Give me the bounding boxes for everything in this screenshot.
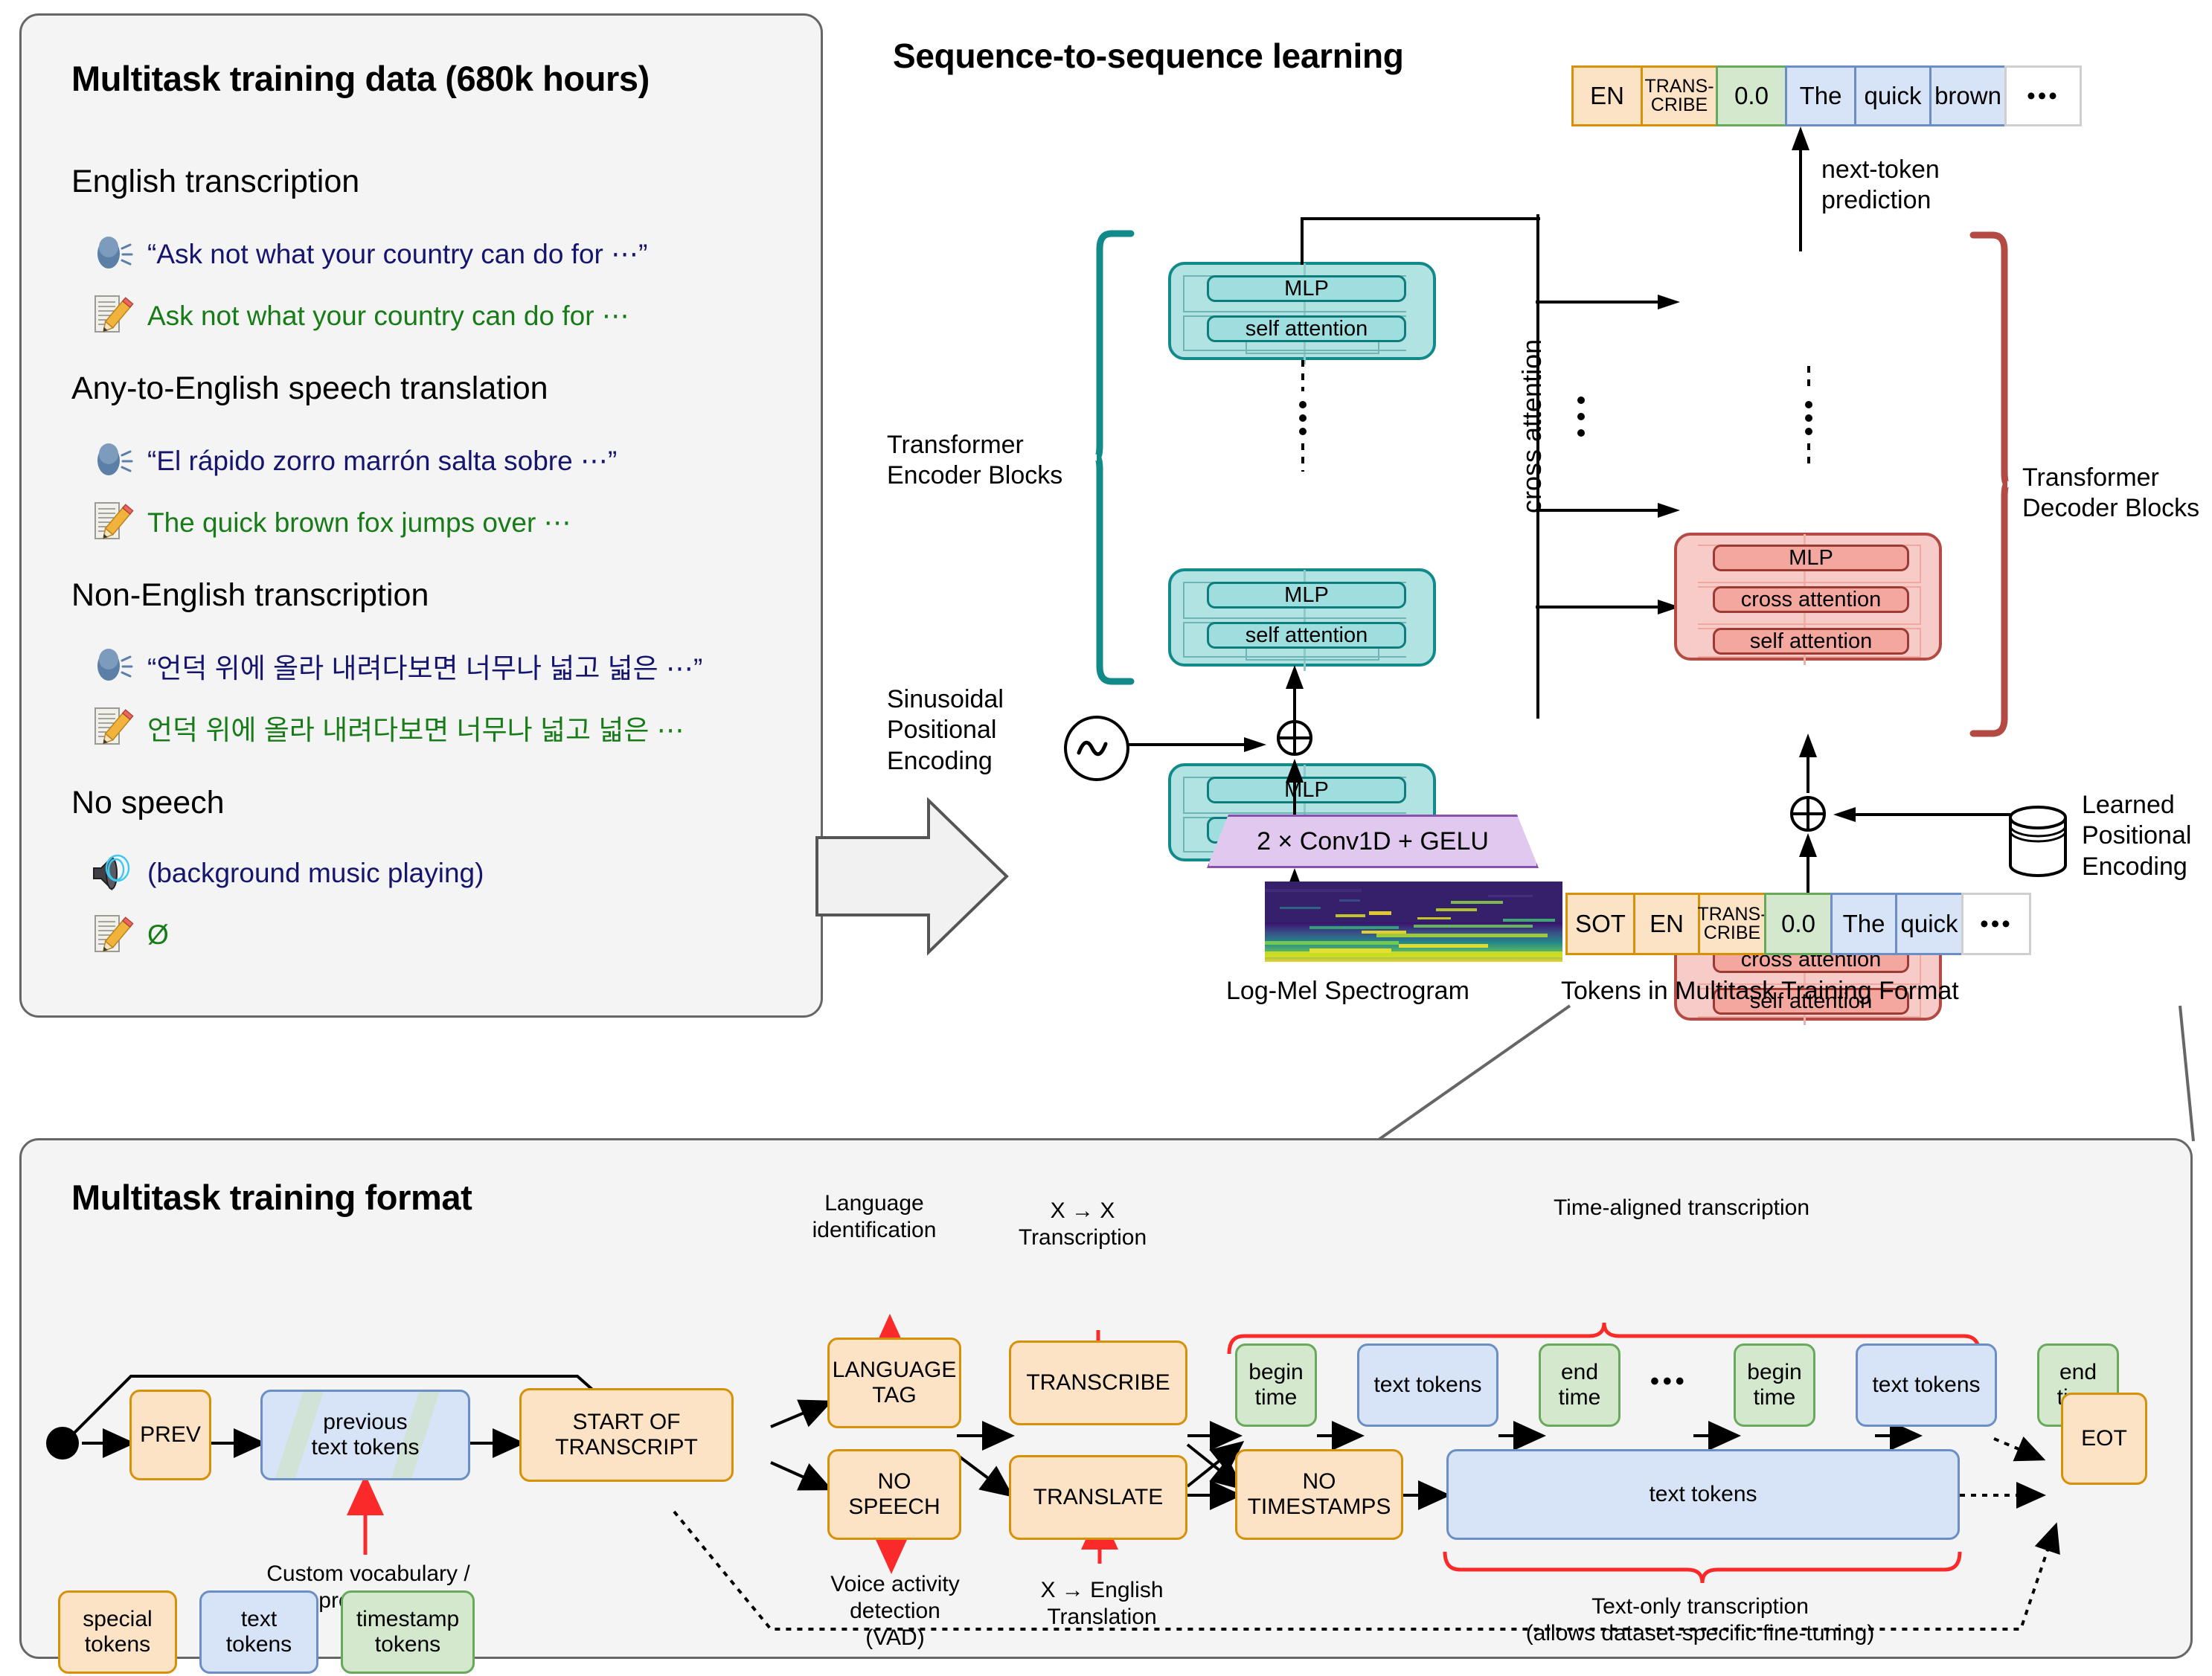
token-the[interactable]: The <box>1785 65 1856 126</box>
flow-node-eot[interactable]: EOT <box>2061 1393 2147 1485</box>
example-transcript-text: 언덕 위에 올라 내려다보면 너무나 넓고 넓은 ⋯ <box>147 707 685 748</box>
example-speech-row: “언덕 위에 올라 내려다보면 너무나 넓고 넓은 ⋯” <box>89 643 702 689</box>
sine-to-sum-arrow <box>1126 736 1268 757</box>
conv1d-gelu-label: 2 × Conv1D + GELU <box>1207 815 1539 868</box>
category-heading-non-english-transcription: Non-English transcription <box>71 577 429 614</box>
flow-node-start-of-transcript[interactable]: START OF TRANSCRIPT <box>519 1388 734 1482</box>
token-ellipsis: ••• <box>1961 893 2031 955</box>
flow-node-text-tokens-2[interactable]: text tokens <box>1856 1343 1997 1427</box>
example-speech-text: “Ask not what your country can do for ⋯” <box>147 238 647 270</box>
sum-to-decoder-arrow <box>1795 732 1821 797</box>
token-en[interactable]: EN <box>1571 65 1643 126</box>
flow-node-no-timestamps[interactable]: NO TIMESTAMPS <box>1235 1449 1403 1540</box>
example-speech-row: “Ask not what your country can do for ⋯” <box>89 231 647 277</box>
annotation-text-only: Text-only transcription (allows dataset-… <box>1399 1593 2001 1647</box>
spectrogram-caption: Log-Mel Spectrogram <box>1226 976 1469 1006</box>
flow-node-language-tag[interactable]: LANGUAGE TAG <box>827 1338 961 1428</box>
loudspeaker-icon <box>89 850 135 896</box>
decoder-block-top: MLP cross attention self attention <box>1674 533 1942 661</box>
input-token-strip: SOT EN TRANS- CRIBE 0.0 The quick ••• <box>1565 893 2031 955</box>
encoder-stack-ellipsis-icon <box>1293 360 1312 475</box>
example-speech-text: “El rápido zorro marrón salta sobre ⋯” <box>147 445 617 477</box>
token-brown[interactable]: brown <box>1929 65 2007 126</box>
flow-node-transcribe[interactable]: TRANSCRIBE <box>1009 1341 1187 1425</box>
example-speech-row: “El rápido zorro marrón salta sobre ⋯” <box>89 437 617 484</box>
annotation-time-aligned: Time-aligned transcription <box>1436 1195 1927 1221</box>
cross-attention-arrow-mid <box>1536 503 1682 521</box>
sine-wave-icon <box>1064 716 1129 781</box>
legend-timestamp-tokens: timestamp tokens <box>341 1590 475 1674</box>
speaking-head-icon <box>89 231 135 277</box>
encoder-bracket-label: Transformer Encoder Blocks <box>887 430 1062 492</box>
panel-connector-lines <box>1376 1006 2195 1145</box>
token-sot[interactable]: SOT <box>1565 893 1635 955</box>
encoder-mlp: MLP <box>1207 582 1406 609</box>
token-timestamp-0[interactable]: 0.0 <box>1716 65 1787 126</box>
database-cylinder-icon <box>2007 806 2068 877</box>
token-en[interactable]: EN <box>1633 893 1700 955</box>
encoder-self-attention: self attention <box>1207 315 1406 342</box>
example-transcript-row: The quick brown fox jumps over ⋯ <box>89 499 571 545</box>
decoder-sum-icon <box>1789 794 1827 833</box>
conv-to-sum-arrow <box>1281 757 1308 822</box>
decoder-bracket-label: Transformer Decoder Blocks <box>2022 463 2199 524</box>
flow-node-end-time-1[interactable]: end time <box>1539 1343 1620 1427</box>
flow-node-prev[interactable]: PREV <box>129 1390 211 1480</box>
flow-ellipsis: ••• <box>1650 1367 1688 1396</box>
speaking-head-icon <box>89 437 135 484</box>
encoder-mlp: MLP <box>1207 275 1406 302</box>
tokens-to-sum-arrow <box>1795 832 1821 898</box>
annotation-vad: Voice activity detection (VAD) <box>787 1571 1003 1651</box>
decoder-bus-ellipsis-icon <box>1571 394 1591 457</box>
encoder-block-top: MLP self attention <box>1168 262 1436 360</box>
decoder-mlp: MLP <box>1713 545 1909 571</box>
flow-node-begin-time-1[interactable]: begin time <box>1235 1343 1317 1427</box>
annotation-translation-task: X → English Translation <box>994 1577 1210 1631</box>
learned-pos-to-sum-arrow <box>1832 806 2010 826</box>
memo-pencil-icon <box>89 292 135 338</box>
decoder-cross-attention: cross attention <box>1713 586 1909 613</box>
example-speech-text: (background music playing) <box>147 858 484 889</box>
annotation-transcription-task: X → X Transcription <box>990 1198 1176 1251</box>
flow-node-translate[interactable]: TRANSLATE <box>1009 1455 1187 1540</box>
sum-to-encoder-arrow <box>1281 664 1308 727</box>
category-heading-no-speech: No speech <box>71 785 225 821</box>
memo-pencil-icon <box>89 499 135 545</box>
output-token-strip: EN TRANS- CRIBE 0.0 The quick brown ••• <box>1571 65 2082 126</box>
next-token-prediction-label: next-token prediction <box>1821 155 1940 216</box>
flow-node-text-tokens-1[interactable]: text tokens <box>1357 1343 1498 1427</box>
memo-pencil-icon <box>89 912 135 958</box>
decoder-stack-ellipsis-icon <box>1799 366 1818 474</box>
flow-node-text-tokens-long[interactable]: text tokens <box>1446 1449 1960 1540</box>
example-transcript-text: The quick brown fox jumps over ⋯ <box>147 507 571 539</box>
example-transcript-row: 언덕 위에 올라 내려다보면 너무나 넓고 넓은 ⋯ <box>89 704 685 751</box>
flow-node-previous-text-tokens-label: previous text tokens <box>311 1410 419 1460</box>
log-mel-spectrogram-image <box>1265 882 1562 962</box>
flow-node-no-speech[interactable]: NO SPEECH <box>827 1449 961 1540</box>
learned-positional-encoding-label: Learned Positional Encoding <box>2082 790 2191 882</box>
tokens-caption: Tokens in Multitask Training Format <box>1561 976 1959 1006</box>
sinusoidal-positional-encoding-label: Sinusoidal Positional Encoding <box>887 684 1004 777</box>
flow-arrow-icon <box>817 794 1010 958</box>
encoder-bracket-icon <box>1095 231 1134 688</box>
multitask-format-title: Multitask training format <box>71 1177 472 1218</box>
example-speech-text: “언덕 위에 올라 내려다보면 너무나 넓고 넓은 ⋯” <box>147 646 702 686</box>
token-the[interactable]: The <box>1830 893 1897 955</box>
category-heading-speech-translation: Any-to-English speech translation <box>71 370 548 407</box>
encoder-block-mid: MLP self attention <box>1168 568 1436 667</box>
flow-node-begin-time-2[interactable]: begin time <box>1734 1343 1815 1427</box>
cross-attention-arrow-top <box>1536 295 1682 313</box>
token-timestamp-0[interactable]: 0.0 <box>1764 893 1833 955</box>
legend-special-tokens: special tokens <box>58 1590 177 1674</box>
flow-node-previous-text-tokens[interactable]: previous text tokens <box>260 1390 470 1480</box>
encoder-self-attention: self attention <box>1207 622 1406 649</box>
left-panel-title: Multitask training data (680k hours) <box>71 58 650 99</box>
token-transcribe[interactable]: TRANS- CRIBE <box>1698 893 1766 955</box>
annotation-language-identification: Language identification <box>781 1190 967 1244</box>
cross-attention-arrow-bottom <box>1536 600 1682 618</box>
encoder-output-path <box>1295 214 1540 270</box>
example-transcript-text: Ask not what your country can do for ⋯ <box>147 300 629 332</box>
example-speech-row: (background music playing) <box>89 850 484 896</box>
token-quick[interactable]: quick <box>1895 893 1963 955</box>
token-ellipsis: ••• <box>2004 65 2082 126</box>
example-transcript-row: Ø <box>89 912 169 958</box>
speaking-head-icon <box>89 643 135 689</box>
category-heading-english-transcription: English transcription <box>71 164 359 200</box>
next-token-arrow-icon <box>1786 125 1815 255</box>
legend-text-tokens: text tokens <box>199 1590 318 1674</box>
example-transcript-text: Ø <box>147 919 169 951</box>
example-transcript-row: Ask not what your country can do for ⋯ <box>89 292 629 338</box>
decoder-bracket-icon <box>1970 232 2009 740</box>
decoder-self-attention: self attention <box>1713 628 1909 655</box>
cross-attention-label: cross attention <box>1516 339 1548 513</box>
token-transcribe[interactable]: TRANS- CRIBE <box>1641 65 1718 126</box>
memo-pencil-icon <box>89 704 135 751</box>
token-quick[interactable]: quick <box>1854 65 1932 126</box>
seq2seq-title: Sequence-to-sequence learning <box>893 36 1404 76</box>
